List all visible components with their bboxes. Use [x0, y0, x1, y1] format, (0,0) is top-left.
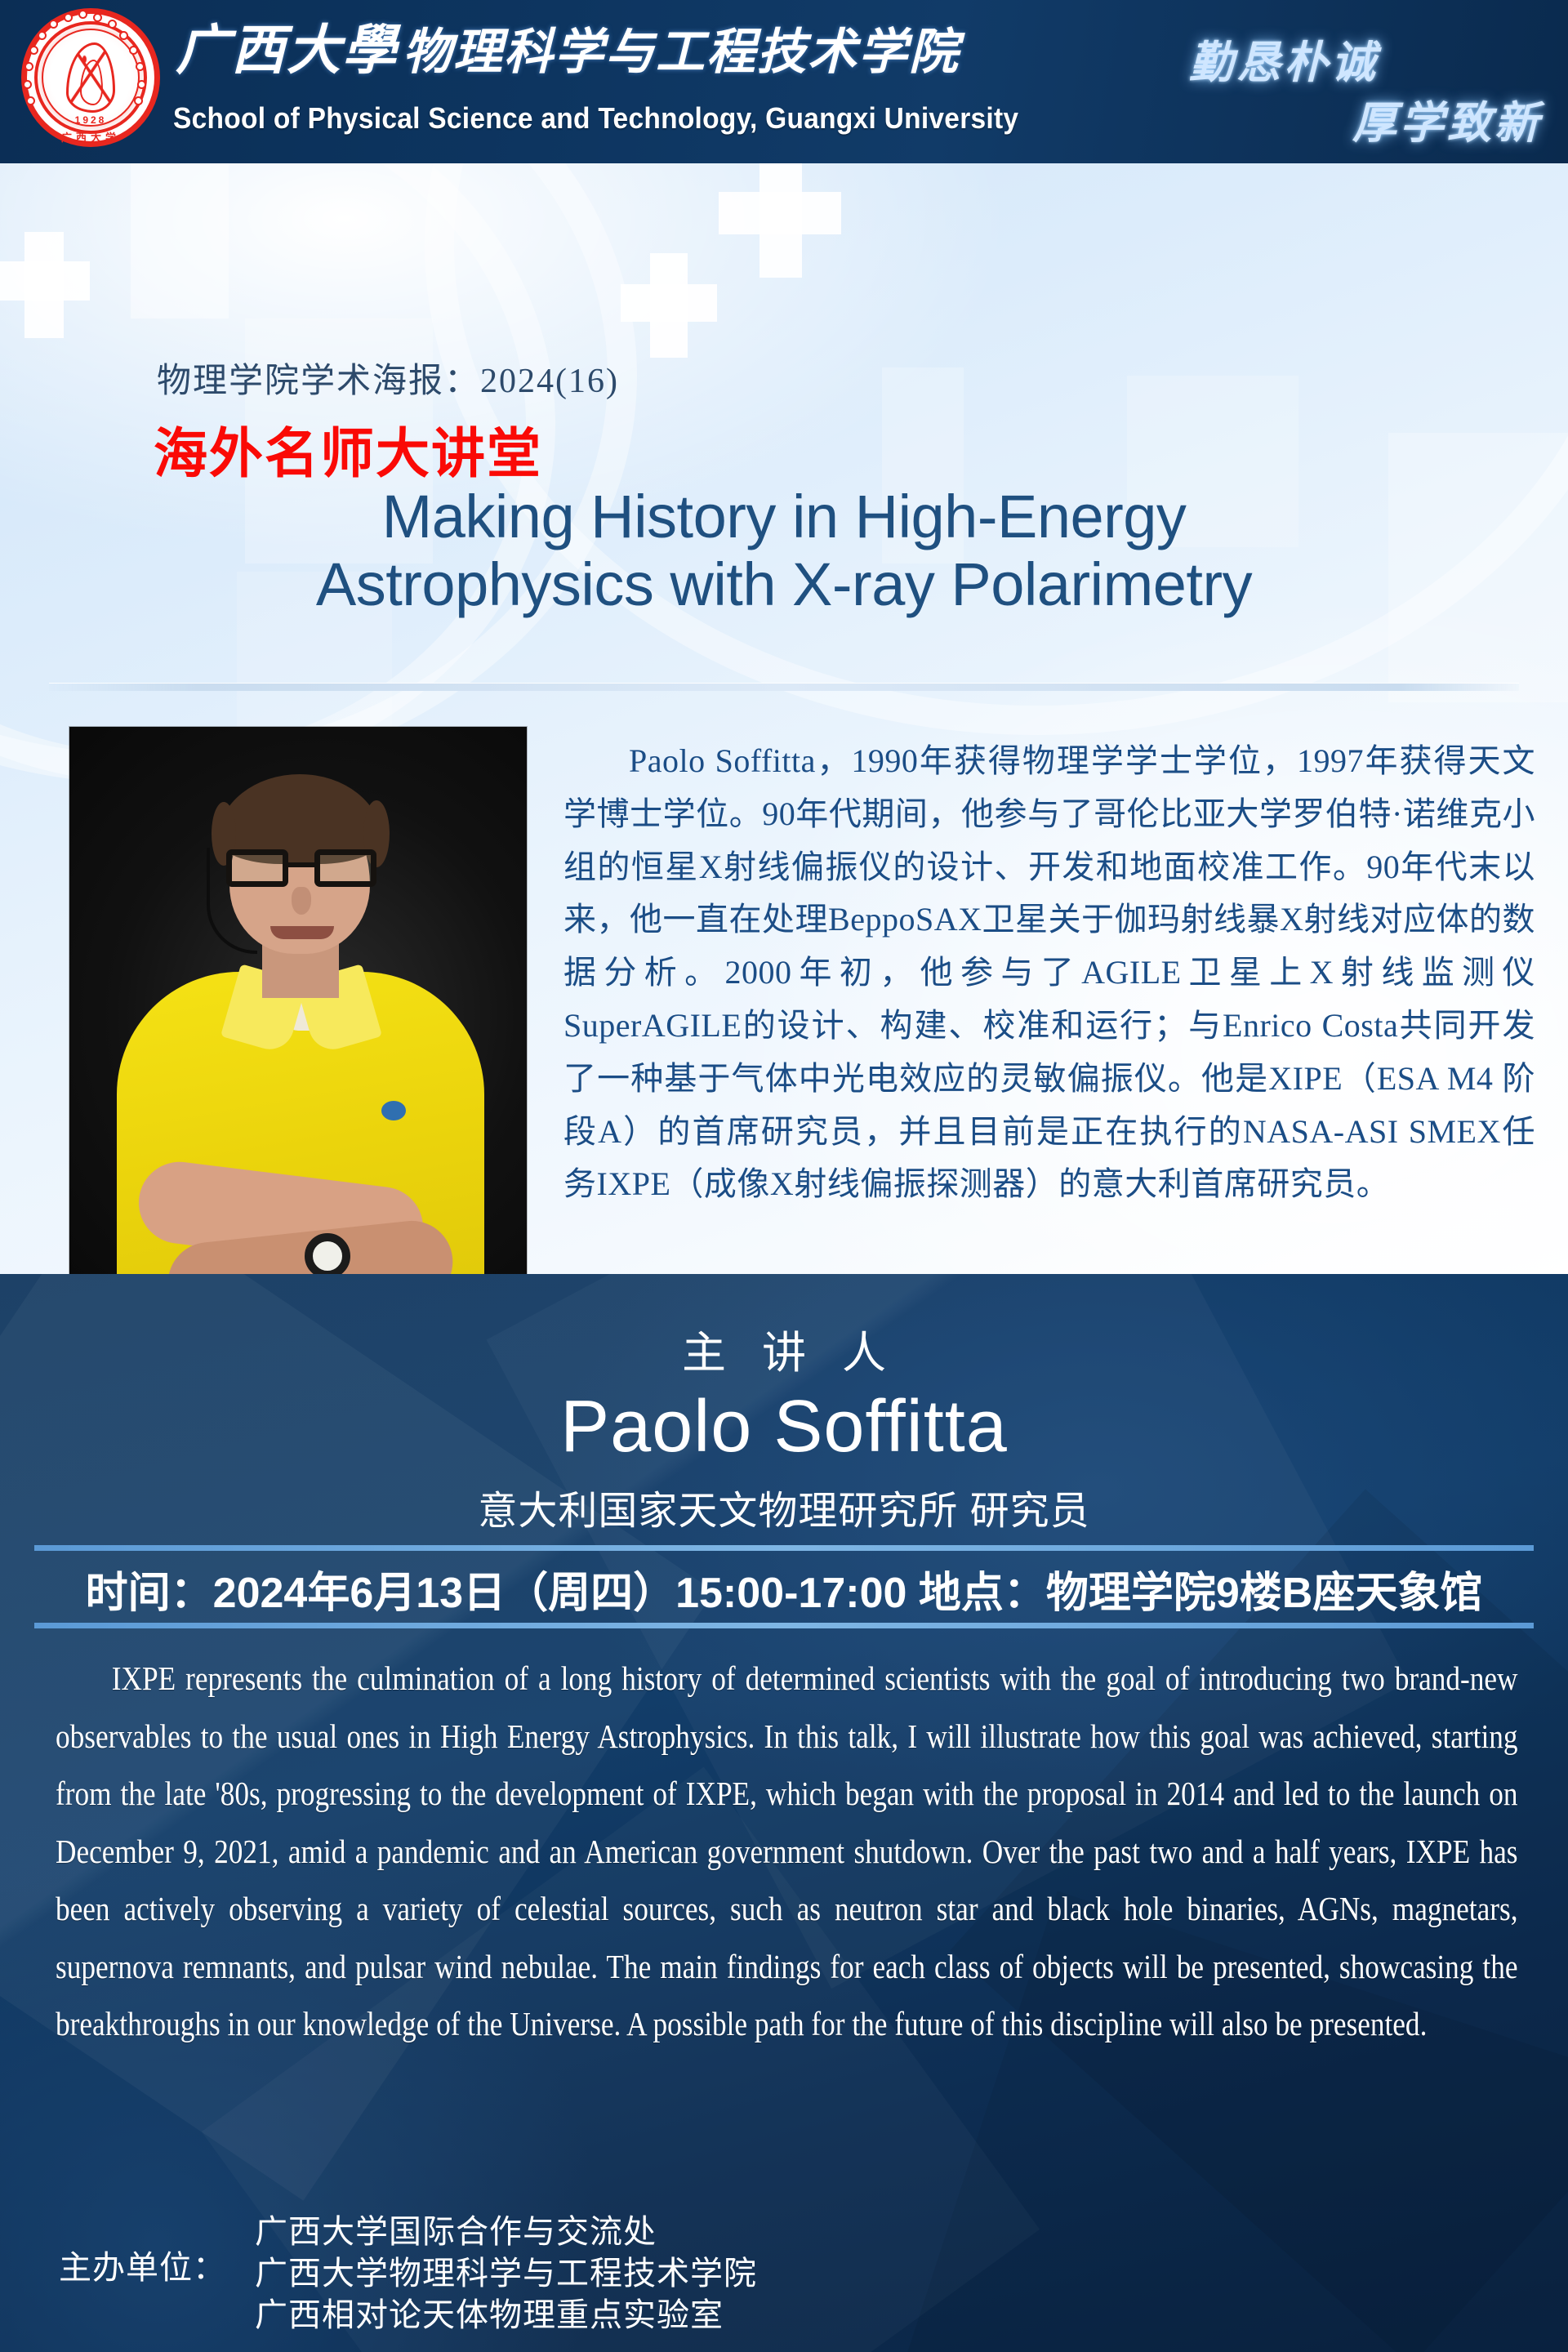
organizers-list: 广西大学国际合作与交流处 广西大学物理科学与工程技术学院 广西相对论天体物理重点…: [255, 2212, 1284, 2337]
shirt-logo-detail: [381, 1101, 406, 1120]
calligraphy-motto: 勤恳朴诚 厚学致新: [1156, 11, 1548, 158]
organizers-label: 主办单位：: [59, 2247, 226, 2289]
motto-line-1: 勤恳朴诚: [1189, 26, 1379, 91]
poster-lower-section: 主讲人 Paolo Soffitta 意大利国家天文物理研究所 研究员 时间：2…: [0, 1274, 1568, 2352]
decor-block: [131, 163, 229, 318]
eyeglasses-icon: [226, 849, 376, 890]
talk-abstract: IXPE represents the culmination of a lon…: [56, 1650, 1518, 2053]
speaker-label: 主讲人: [0, 1316, 1568, 1381]
organizer-item: 广西大学物理科学与工程技术学院: [255, 2253, 1284, 2295]
title-line-1: Making History in High-Energy: [382, 483, 1187, 550]
header-banner: 1928 广西大学 广西大學物理科学与工程技术学院 School of Phys…: [0, 0, 1568, 163]
seal-university-name: 广西大学: [15, 129, 167, 145]
poster-number: 物理学院学术海报：2024(16): [157, 353, 619, 403]
banner-university-cn: 广西大學: [176, 21, 398, 81]
university-seal-logo: 1928 广西大学: [15, 2, 167, 158]
decor-plus-shape: [759, 163, 802, 278]
decor-plus-shape: [650, 253, 688, 358]
organizers-block: 主办单位： 广西大学国际合作与交流处 广西大学物理科学与工程技术学院 广西相对论…: [59, 2212, 1284, 2337]
organizer-item: 广西相对论天体物理重点实验室: [255, 2295, 1284, 2336]
event-time-and-venue: 时间：2024年6月13日（周四）15:00-17:00 地点：物理学院9楼B座…: [34, 1558, 1534, 1619]
speaker-name: Paolo Soffitta: [0, 1385, 1568, 1469]
page-title: Making History in High-Energy Astrophysi…: [49, 483, 1519, 619]
title-divider: [49, 683, 1519, 691]
speaker-biography: Paolo Soffitta，1990年获得物理学学士学位，1997年获得天文学…: [563, 735, 1535, 1211]
poster-series-title: 海外名师大讲堂: [154, 410, 542, 488]
organizer-item: 广西大学国际合作与交流处: [255, 2212, 1284, 2253]
seal-year: 1928: [15, 114, 167, 126]
banner-school-cn: 物理科学与工程技术学院: [403, 25, 960, 79]
title-line-2: Astrophysics with X-ray Polarimetry: [49, 551, 1519, 619]
wristwatch-detail: [305, 1233, 350, 1274]
poster-upper-section: 物理学院学术海报：2024(16) 海外名师大讲堂 Making History…: [0, 163, 1568, 1274]
event-details-bar: 时间：2024年6月13日（周四）15:00-17:00 地点：物理学院9楼B座…: [34, 1545, 1534, 1628]
speaker-photo: [69, 727, 527, 1274]
divider-line-top: [34, 1545, 1534, 1551]
speaker-affiliation: 意大利国家天文物理研究所 研究员: [0, 1478, 1568, 1535]
divider-line-bottom: [34, 1623, 1534, 1628]
banner-english-title: School of Physical Science and Technolog…: [173, 101, 1018, 136]
decor-plus-shape: [24, 232, 64, 338]
motto-line-2: 厚学致新: [1352, 87, 1542, 151]
banner-chinese-title: 广西大學物理科学与工程技术学院: [176, 7, 960, 85]
